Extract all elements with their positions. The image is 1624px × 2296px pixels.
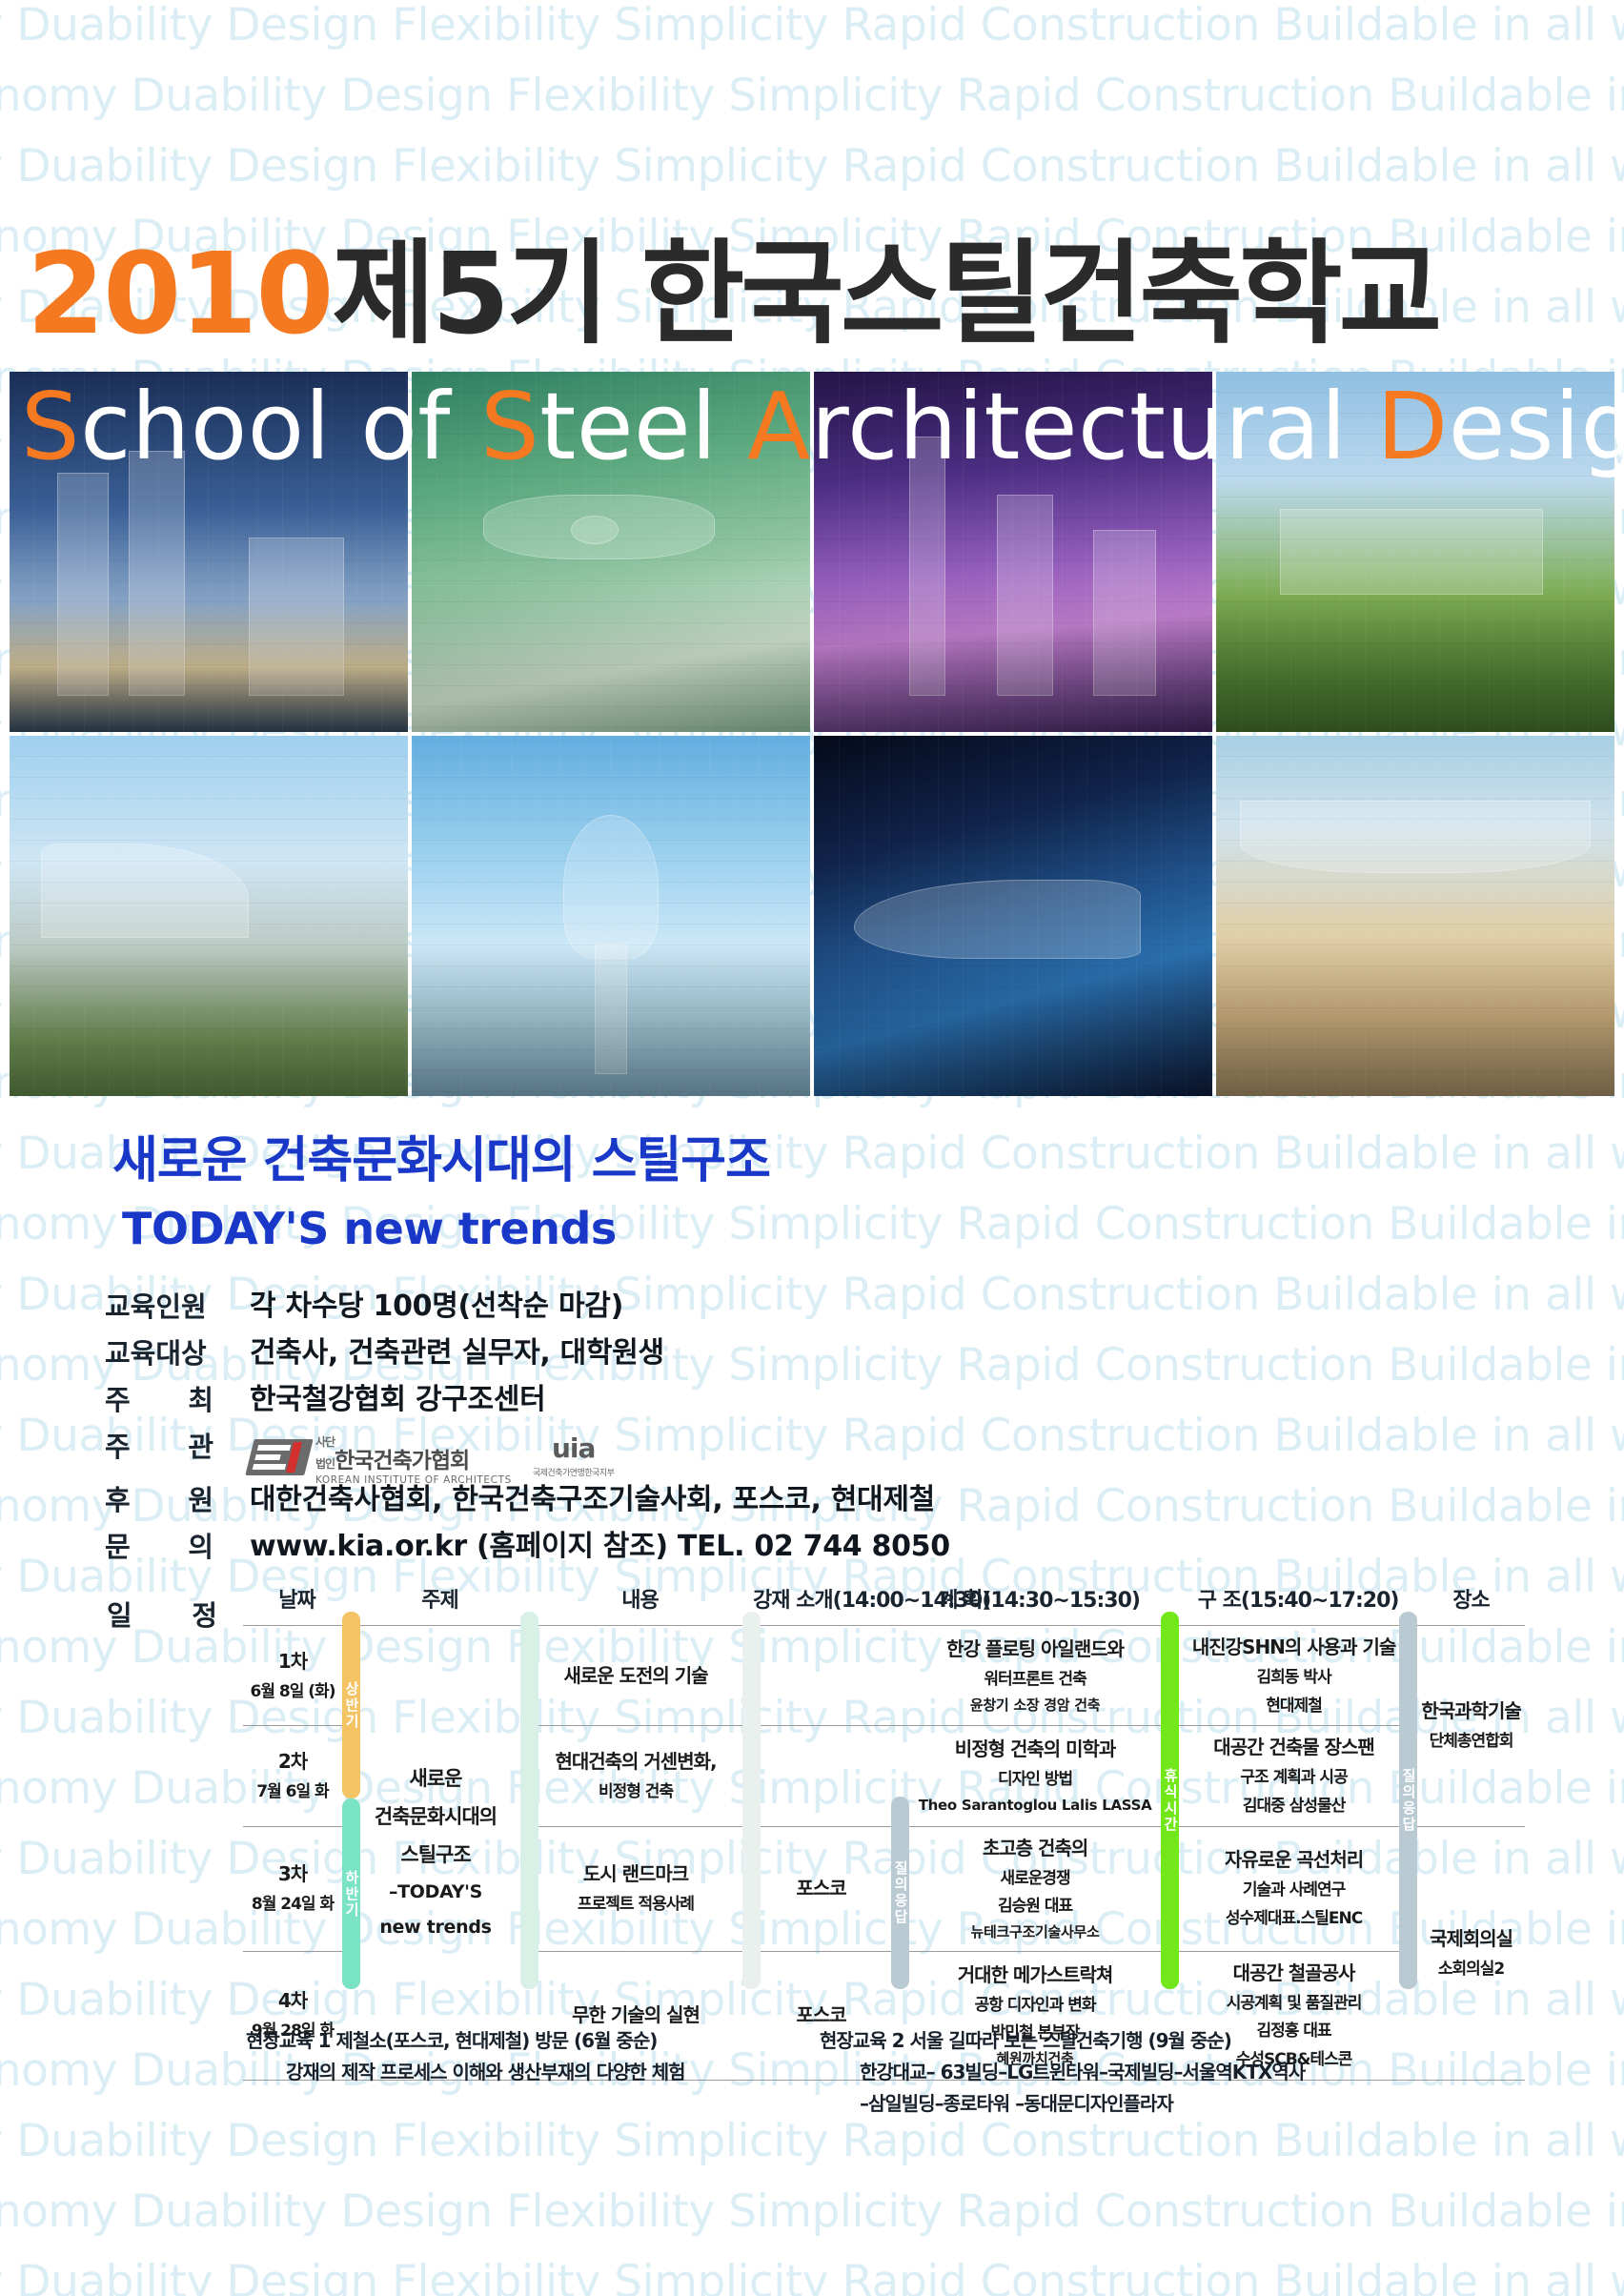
cell-plan-title2-2: 디자인 방법 <box>903 1768 1167 1792</box>
uia-logo-subtitle: 국제건축가연맹한국지부 <box>533 1466 615 1478</box>
cell-datetext-1: 6월 8일 (화) <box>246 1680 339 1704</box>
watermark-line: Economy Duability Design Flexibility Sim… <box>0 2247 1624 2296</box>
info-label-organizer-a: 주 <box>105 1429 131 1465</box>
info-value-contact[interactable]: www.kia.or.kr (홈페이지 참조) TEL. 02 744 8050 <box>250 1529 950 1565</box>
info-label-host-a: 주 <box>105 1382 131 1418</box>
footnote-1-head: 현장교육 1 제철소(포스코, 현대제철) 방문 (6월 중순) <box>246 2025 761 2057</box>
footnote-2-head: 현장교육 2 서울 길따라 보는 스틸건축기행 (9월 중순) <box>820 2025 1430 2057</box>
school-title-segment: teel <box>539 373 747 480</box>
footnote-1: 현장교육 1 제철소(포스코, 현대제철) 방문 (6월 중순) 강재의 제작 … <box>246 2025 761 2120</box>
organizer-logos: 사단법인한국건축가협회 KOREAN INSTITUTE OF ARCHITEC… <box>250 1429 614 1486</box>
info-label-contact-a: 문 <box>105 1529 131 1565</box>
cell-plan-title2-4: 공항 디자인과 변화 <box>903 1994 1167 2018</box>
cell-plan-title2-1: 워터프론트 건축 <box>903 1668 1167 1692</box>
school-title: School of Steel Architectural Design <box>21 379 1613 475</box>
cell-struct-speaker1-2: 김대중 삼성물산 <box>1182 1795 1406 1819</box>
info-label-organizer-b: 관 <box>188 1429 213 1465</box>
break-time-bar: 휴식시간 <box>1161 1612 1179 1989</box>
schedule-label-b: 정 <box>192 1594 217 1634</box>
photo-atrium-interior-concourse <box>1216 736 1614 1096</box>
footnotes: 현장교육 1 제철소(포스코, 현대제철) 방문 (6월 중순) 강재의 제작 … <box>246 2025 1523 2120</box>
info-label-audience: 교육대상 <box>105 1335 250 1372</box>
info-row-host: 주 최 한국철강협회 강구조센터 <box>105 1382 1153 1420</box>
photo-museum-curved-roof-night <box>814 736 1212 1096</box>
info-label-organizer: 주 관 <box>105 1429 250 1465</box>
cell-content2-l1: 현대건축의 거센변화, <box>555 1750 716 1773</box>
cell-date-3: 3차 8월 24일 화 <box>243 1826 342 1951</box>
cell-struct-title2-4: 시공계획 및 품질관리 <box>1182 1992 1406 2016</box>
header-plan: 계 획(14:30~15:30) <box>900 1577 1179 1626</box>
watermark-line: Economy Duability Design Flexibility Sim… <box>0 2177 1624 2247</box>
cell-struct-3: 자유로운 곡선처리 기술과 사례연구 성수제대표.스틸ENC <box>1179 1826 1409 1951</box>
school-title-segment: f <box>417 373 480 480</box>
school-title-segment: S <box>480 373 539 480</box>
qa-bar-right: 질의응답 <box>1399 1612 1417 1989</box>
uia-logo-mark: uia <box>533 1435 615 1462</box>
cell-content2-l2: 비정형 건축 <box>532 1780 740 1804</box>
info-value-audience: 건축사, 건축관련 실무자, 대학원생 <box>250 1335 664 1372</box>
cell-session-4: 4차 <box>278 1989 307 2012</box>
qa-bar-left-label: 질의응답 <box>893 1860 907 1925</box>
theme-line: 새로운 <box>354 1764 518 1793</box>
school-title-segment: chool <box>80 373 360 480</box>
theme-line: new trends <box>354 1915 518 1941</box>
info-label-host: 주 최 <box>105 1382 250 1418</box>
cell-datetext-2: 7월 6일 화 <box>246 1780 339 1804</box>
watermark-line: Economy Duability Design Flexibility Sim… <box>0 61 1624 132</box>
school-title-segment: o <box>360 373 417 480</box>
info-value-sponsor: 대한건축사협회, 한국건축구조기술사회, 포스코, 현대제철 <box>250 1482 935 1518</box>
info-value-host: 한국철강협회 강구조센터 <box>250 1382 545 1418</box>
kia-logo-korean: 한국건축가협회 <box>335 1449 469 1473</box>
cell-venue-line1: 한국과학기술 <box>1421 1699 1520 1722</box>
info-label-host-b: 최 <box>188 1382 213 1418</box>
header-content: 내용 <box>529 1577 751 1626</box>
cell-struct-speaker2-1: 현대제철 <box>1182 1695 1406 1718</box>
cell-venue-a: 한국과학기술 단체총연합회 <box>1417 1626 1525 1827</box>
uia-logo: uia 국제건축가연맹한국지부 <box>533 1435 615 1478</box>
info-label-sponsor: 후 원 <box>105 1482 250 1518</box>
cell-plan-3: 초고층 건축의 새로운경쟁 김승원 대표 뉴테크구조기술사무소 <box>900 1826 1170 1951</box>
photo-observation-tower-sky <box>412 736 810 1096</box>
masthead-korean-title: 제5기 한국스틸건축학교 <box>332 228 1438 359</box>
info-block: 교육인원 각 차수당 100명(선착순 마감) 교육대상 건축사, 건축관련 실… <box>105 1289 1153 1575</box>
cell-struct-speaker1-3: 성수제대표.스틸ENC <box>1182 1907 1406 1931</box>
cell-date-1: 1차 6월 8일 (화) <box>243 1626 342 1726</box>
cell-plan-speaker-2: Theo Sarantoglou Lalis LASSA <box>903 1796 1167 1817</box>
info-row-contact: 문 의 www.kia.or.kr (홈페이지 참조) TEL. 02 744 … <box>105 1529 1153 1567</box>
info-row-organizer: 주 관 사단법인한국건축가협회 KOREAN INSTITUTE OF ARCH… <box>105 1429 1153 1478</box>
cell-venue-line2: 단체총연합회 <box>1420 1730 1522 1754</box>
cell-venue2-line1: 국제회의실 <box>1430 1927 1512 1950</box>
kia-logo: 사단법인한국건축가협회 KOREAN INSTITUTE OF ARCHITEC… <box>250 1429 512 1486</box>
table-row: 1차 6월 8일 (화) 새로운건축문화시대의스틸구조–TODAY'Snew t… <box>243 1626 1525 1726</box>
cell-content-3: 도시 랜드마크 프로젝트 적용사례 <box>529 1826 742 1951</box>
cell-qabar-1 <box>891 1626 900 1726</box>
cell-struct-title2-3: 기술과 사례연구 <box>1182 1879 1406 1902</box>
theme-divider-bar <box>520 1612 538 1989</box>
qa-bar-right-label: 질의응답 <box>1401 1768 1415 1833</box>
cell-plan-title1-2: 비정형 건축의 미학과 <box>955 1737 1116 1760</box>
cell-steel-3: 포스코 <box>751 1826 891 1951</box>
schedule-table: 날짜 주제 내용 강재 소개(14:00~14:30) 계 획(14:30~15… <box>243 1577 1525 2081</box>
cell-plan-speaker1-3: 김승원 대표 <box>903 1895 1167 1919</box>
cell-struct-title1-3: 자유로운 곡선처리 <box>1225 1848 1363 1871</box>
first-half-bar: 상반기 <box>342 1612 360 1798</box>
cell-struct-speaker1-1: 김희동 박사 <box>1182 1666 1406 1690</box>
cell-plan-title1-4: 거대한 메가스트락쳐 <box>958 1963 1113 1986</box>
cell-plan-1: 한강 플로팅 아일랜드와 워터프론트 건축 윤창기 소장 경암 건축 <box>900 1626 1170 1726</box>
school-title-segment: rchitectural <box>811 373 1377 480</box>
photo-station-canopy-exterior <box>10 736 408 1096</box>
headline-english: TODAY'S new trends <box>122 1203 617 1254</box>
qa-bar-left: 질의응답 <box>891 1797 909 1989</box>
footnote-2: 현장교육 2 서울 길따라 보는 스틸건축기행 (9월 중순) 한강대교– 63… <box>820 2025 1430 2120</box>
header-struct: 구 조(15:40~17:20) <box>1179 1577 1417 1626</box>
info-label-attendees: 교육인원 <box>105 1289 250 1325</box>
header-steel: 강재 소개(14:00~14:30) <box>751 1577 900 1626</box>
footnote-2-sub2: –삼일빌딩–종로타워 –동대문디자인플라자 <box>820 2088 1430 2120</box>
school-title-segment: D <box>1377 373 1449 480</box>
info-label-contact-b: 의 <box>188 1529 213 1565</box>
cell-content3-l2: 프로젝트 적용사례 <box>532 1893 740 1917</box>
cell-plan-title1-3: 초고층 건축의 <box>983 1837 1087 1859</box>
cell-datetext-3: 8월 24일 화 <box>246 1893 339 1917</box>
cell-content-1: 새로운 도전의 기술 <box>529 1626 742 1726</box>
info-value-attendees: 각 차수당 100명(선착순 마감) <box>250 1289 623 1325</box>
headline-korean: 새로운 건축문화시대의 스틸구조 <box>112 1120 770 1191</box>
footnote-2-sub1: 한강대교– 63빌딩–LG트윈타워–국제빌딩–서울역KTX역사 <box>820 2057 1430 2088</box>
info-row-audience: 교육대상 건축사, 건축관련 실무자, 대학원생 <box>105 1335 1153 1373</box>
info-label-sponsor-a: 후 <box>105 1482 131 1518</box>
schedule-label-a: 일 <box>107 1594 132 1634</box>
watermark-line: Economy Duability Design Flexibility Sim… <box>0 0 1624 61</box>
header-theme: 주제 <box>351 1577 529 1626</box>
schedule-table-wrapper: 상반기 하반기 질의응답 휴식시간 질의응답 날짜 <box>243 1577 1525 2016</box>
kia-logo-prefix: 사단법인 <box>315 1435 335 1471</box>
school-title-segment: esign <box>1449 373 1624 480</box>
footnote-1-sub1: 강재의 제작 프로세스 이해와 생산부재의 다양한 체험 <box>246 2057 761 2088</box>
theme-line: 스틸구조 <box>354 1840 518 1869</box>
theme-line: 건축문화시대의 <box>354 1802 518 1831</box>
info-label-sponsor-b: 원 <box>188 1482 213 1518</box>
header-date: 날짜 <box>243 1577 351 1626</box>
cell-plan-speaker2-3: 뉴테크구조기술사무소 <box>903 1922 1167 1943</box>
kia-logo-text: 사단법인한국건축가협회 KOREAN INSTITUTE OF ARCHITEC… <box>315 1429 512 1486</box>
info-label-contact: 문 의 <box>105 1529 250 1565</box>
first-half-bar-label: 상반기 <box>344 1681 358 1730</box>
cell-struct-title2-2: 구조 계획과 시공 <box>1182 1766 1406 1790</box>
cell-content-2: 현대건축의 거센변화, 비정형 건축 <box>529 1726 742 1826</box>
school-title-segment: A <box>747 373 811 480</box>
cell-plan-title1-1: 한강 플로팅 아일랜드와 <box>946 1637 1124 1660</box>
cell-session-1: 1차 <box>278 1650 307 1673</box>
info-row-sponsor: 후 원 대한건축사협회, 한국건축구조기술사회, 포스코, 현대제철 <box>105 1482 1153 1520</box>
cell-struct-title1-4: 대공간 철골공사 <box>1233 1961 1355 1984</box>
header-venue: 장소 <box>1417 1577 1525 1626</box>
info-row-attendees: 교육인원 각 차수당 100명(선착순 마감) <box>105 1289 1153 1327</box>
kia-emblem-icon <box>245 1439 313 1475</box>
cell-plan-2: 비정형 건축의 미학과 디자인 방법 Theo Sarantoglou Lali… <box>900 1726 1170 1826</box>
cell-struct-1: 내진강SHN의 사용과 기술 김희동 박사 현대제철 <box>1179 1626 1409 1726</box>
cell-steel-1 <box>751 1626 891 1726</box>
cell-plan-speaker-1: 윤창기 소장 경암 건축 <box>903 1696 1167 1717</box>
break-time-bar-label: 휴식시간 <box>1163 1768 1177 1833</box>
schedule-header-row: 날짜 주제 내용 강재 소개(14:00~14:30) 계 획(14:30~15… <box>243 1577 1525 1626</box>
poster-root: Economy Duability Design Flexibility Sim… <box>0 0 1624 2296</box>
masthead: 2010제5기 한국스틸건축학교 <box>0 243 1624 367</box>
cell-session-3: 3차 <box>278 1862 307 1885</box>
cell-content3-l1: 도시 랜드마크 <box>583 1862 688 1885</box>
second-half-bar-label: 하반기 <box>344 1870 358 1919</box>
cell-struct-2: 대공간 건축물 장스팬 구조 계획과 시공 김대중 삼성물산 <box>1179 1726 1409 1826</box>
photo-strip <box>10 372 1614 1096</box>
masthead-year: 2010 <box>27 228 332 359</box>
cell-theme: 새로운건축문화시대의스틸구조–TODAY'Snew trends <box>351 1626 520 2081</box>
watermark-line: Economy Duability Design Flexibility Sim… <box>0 132 1624 202</box>
second-half-bar: 하반기 <box>342 1798 360 1989</box>
content-divider-bar <box>742 1612 761 1989</box>
schedule-section-label: 일 정 <box>107 1594 217 1634</box>
cell-struct-title1-1: 내진강SHN의 사용과 기술 <box>1192 1636 1395 1658</box>
school-title-segment: S <box>21 373 80 480</box>
theme-line: –TODAY'S <box>354 1879 518 1906</box>
cell-steel-2 <box>751 1726 891 1826</box>
cell-session-2: 2차 <box>278 1750 307 1773</box>
cell-venue2-line2: 소회의실2 <box>1420 1958 1522 1981</box>
cell-plan-title2-3: 새로운경쟁 <box>903 1867 1167 1891</box>
cell-struct-title1-2: 대공간 건축물 장스팬 <box>1213 1736 1374 1758</box>
cell-date-2: 2차 7월 6일 화 <box>243 1726 342 1826</box>
